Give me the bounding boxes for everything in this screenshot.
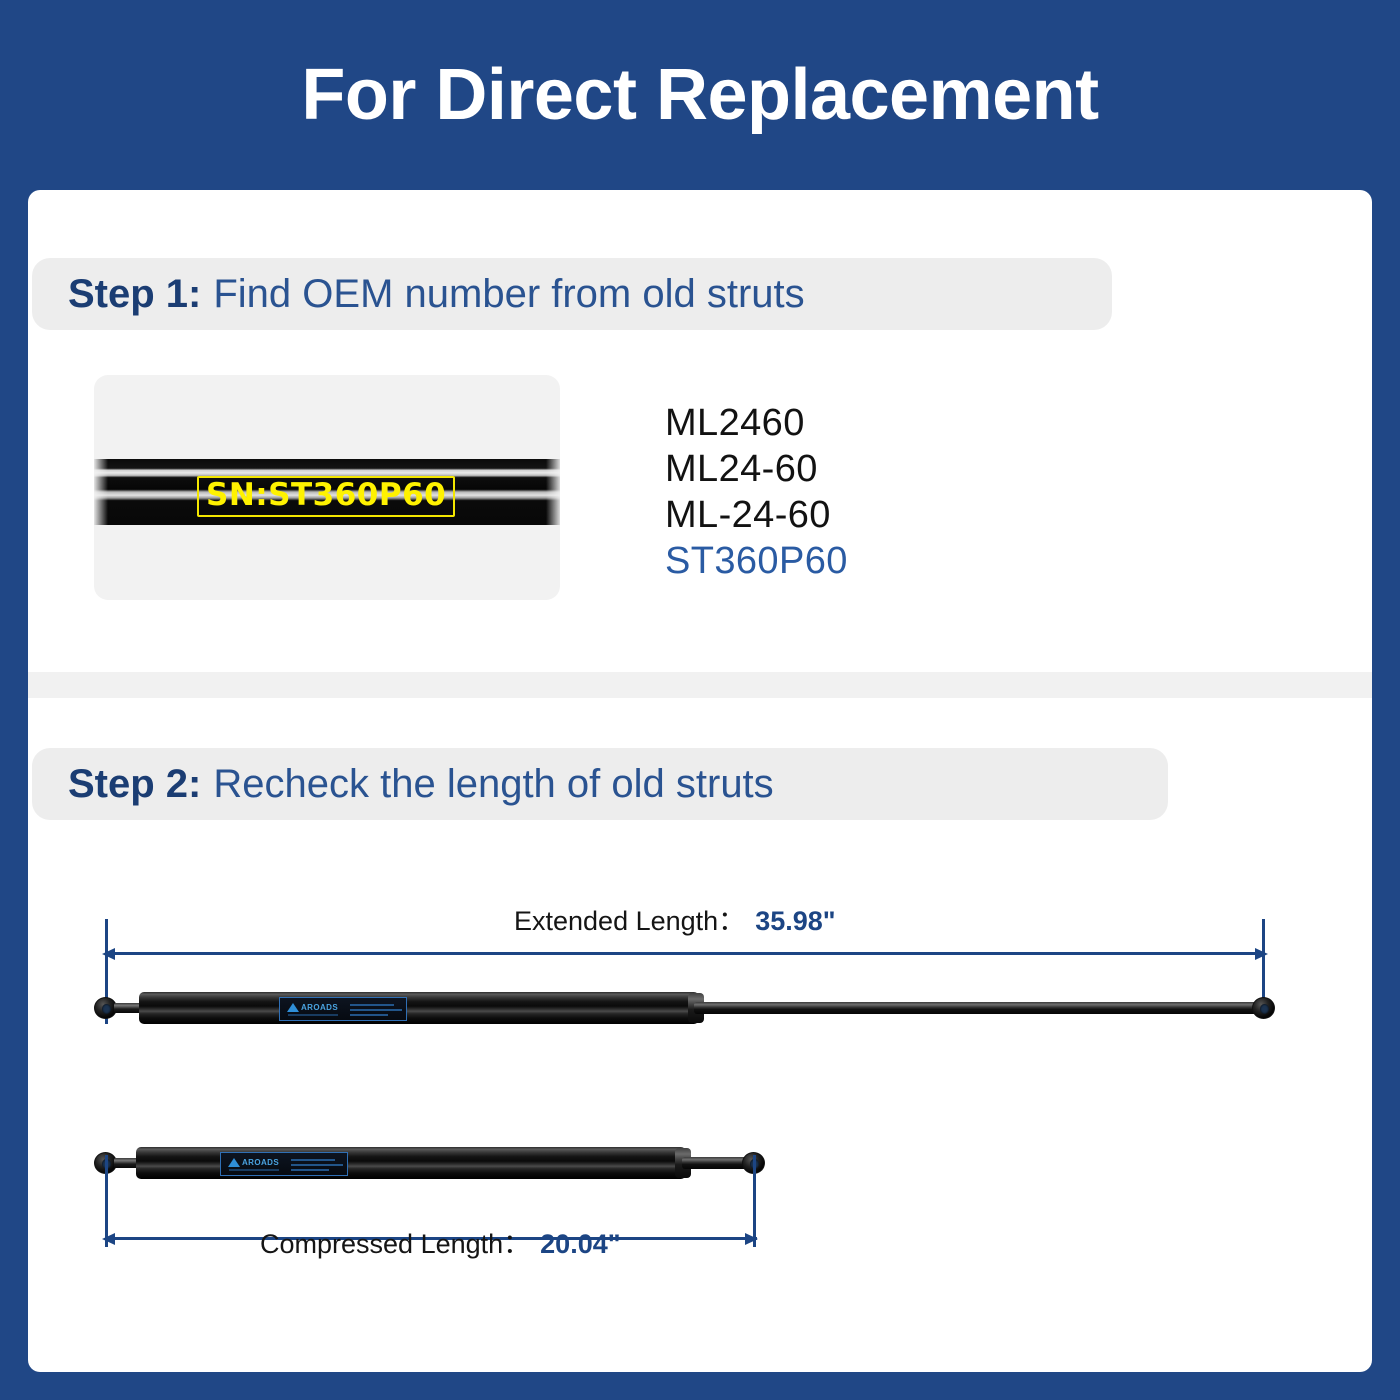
step-2-label: Step 2:: [68, 762, 201, 807]
eyelet-right-icon: [1252, 997, 1275, 1019]
product-label-sticker: AROADS: [220, 1152, 348, 1176]
section-divider: [28, 672, 1372, 698]
step-1-text: Find OEM number from old struts: [213, 272, 804, 317]
oem-number-item: ML24-60: [665, 446, 848, 492]
piston-rod: [682, 1157, 750, 1169]
extended-length-caption: Extended Length：35.98": [514, 905, 836, 937]
page-title: For Direct Replacement: [301, 59, 1098, 131]
brand-logo-icon: [287, 1003, 299, 1012]
compressed-length-value: 20.04": [540, 1229, 620, 1259]
cylinder-body: [136, 1147, 686, 1179]
extended-length-value: 35.98": [755, 906, 835, 936]
oem-number-item: ML2460: [665, 400, 848, 446]
brand-logo-text: AROADS: [242, 1158, 279, 1167]
gas-strut-compressed: AROADS: [94, 1145, 766, 1181]
header-banner: For Direct Replacement: [0, 0, 1400, 190]
step-1-label: Step 1:: [68, 272, 201, 317]
oem-number-item-highlighted: ST360P60: [665, 538, 848, 584]
brand-logo-icon: [228, 1158, 240, 1167]
compressed-length-caption: Compressed Length：20.04": [260, 1228, 621, 1260]
piston-rod: [694, 1002, 1259, 1014]
serial-number-tag: SN:ST360P60: [197, 476, 455, 517]
oem-number-list: ML2460 ML24-60 ML-24-60 ST360P60: [665, 400, 848, 584]
step-1-banner: Step 1: Find OEM number from old struts: [32, 258, 1112, 330]
oem-number-item: ML-24-60: [665, 492, 848, 538]
gas-strut-extended: AROADS: [94, 990, 1276, 1026]
step-2-text: Recheck the length of old struts: [213, 762, 773, 807]
product-label-sticker: AROADS: [279, 997, 407, 1021]
extended-length-label: Extended Length：: [514, 906, 745, 936]
cylinder-body: [139, 992, 699, 1024]
compressed-length-label: Compressed Length：: [260, 1229, 530, 1259]
step-2-banner: Step 2: Recheck the length of old struts: [32, 748, 1168, 820]
strut-label-photo: SN:ST360P60: [94, 375, 560, 600]
brand-logo-text: AROADS: [301, 1003, 338, 1012]
